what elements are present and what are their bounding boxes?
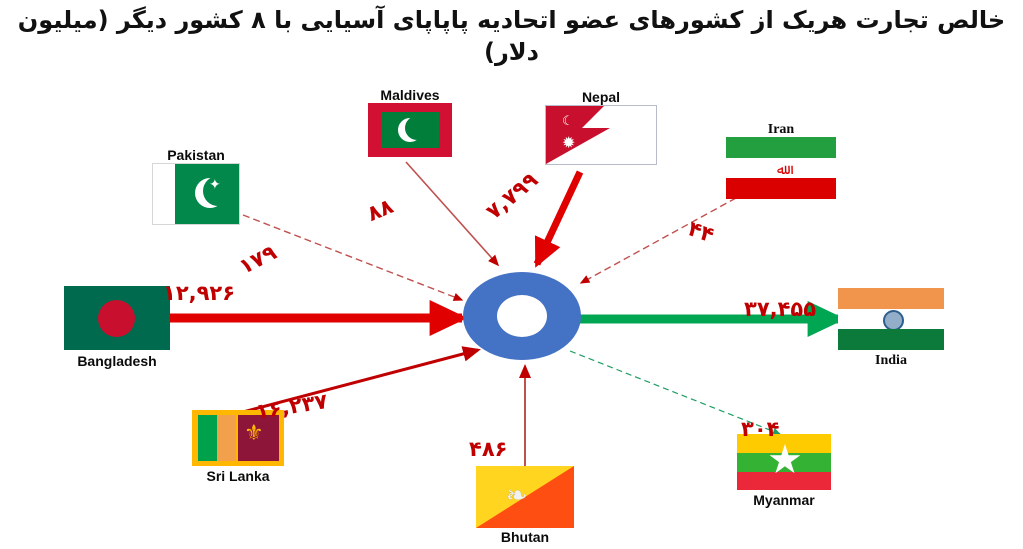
node-pakistan[interactable]: Pakistan ✦: [152, 148, 240, 225]
flag-pakistan-icon: ✦: [152, 163, 240, 225]
flag-bhutan-icon: ❧: [476, 466, 574, 528]
star-icon: ✦: [209, 177, 221, 191]
flag-maldives-icon: [368, 103, 452, 157]
label-srilanka: Sri Lanka: [192, 469, 284, 484]
flag-bangladesh-icon: [64, 286, 170, 350]
label-nepal: Nepal: [545, 90, 657, 105]
value-bangladesh: ۱۲,۹۲۶: [163, 281, 235, 305]
flag-india-icon: [838, 288, 944, 350]
flag-nepal-icon: ☾ ✹: [545, 105, 657, 165]
node-maldives[interactable]: Maldives: [368, 88, 452, 157]
emblem-icon: ﷲ: [726, 162, 836, 176]
node-bhutan[interactable]: ❧ Bhutan: [476, 466, 574, 545]
arrow-nepal: [537, 172, 580, 264]
label-myanmar: Myanmar: [737, 493, 831, 508]
value-bhutan: ۴۸۶: [469, 437, 507, 461]
label-iran: Iran: [726, 122, 836, 137]
hub-center-hole: [497, 295, 547, 337]
node-nepal[interactable]: Nepal ☾ ✹: [545, 90, 657, 165]
node-iran[interactable]: Iran ﷲ: [726, 122, 836, 199]
dragon-icon: ❧: [506, 482, 528, 508]
star-icon: ★: [767, 440, 803, 480]
node-bangladesh[interactable]: Bangladesh: [64, 286, 170, 369]
value-myanmar: ۳۰۴: [741, 417, 779, 441]
node-myanmar[interactable]: ★ Myanmar: [737, 434, 831, 508]
label-bhutan: Bhutan: [476, 530, 574, 545]
label-india: India: [838, 353, 944, 368]
label-bangladesh: Bangladesh: [64, 354, 170, 369]
value-india: ۳۷,۴۵۵: [744, 297, 816, 321]
crescent-icon: ☾: [562, 114, 574, 127]
sun-icon: ✹: [562, 136, 575, 152]
arrow-maldives: [406, 162, 498, 265]
label-maldives: Maldives: [368, 88, 452, 103]
flag-iran-icon: ﷲ: [726, 137, 836, 199]
infographic-canvas: خالص تجارت هریک از کشورهای عضو اتحادیه پ…: [0, 0, 1023, 549]
arrow-iran: [581, 198, 736, 283]
flag-myanmar-icon: ★: [737, 434, 831, 490]
node-india[interactable]: India: [838, 288, 944, 368]
label-pakistan: Pakistan: [152, 148, 240, 163]
lion-icon: ⚜: [244, 422, 264, 444]
